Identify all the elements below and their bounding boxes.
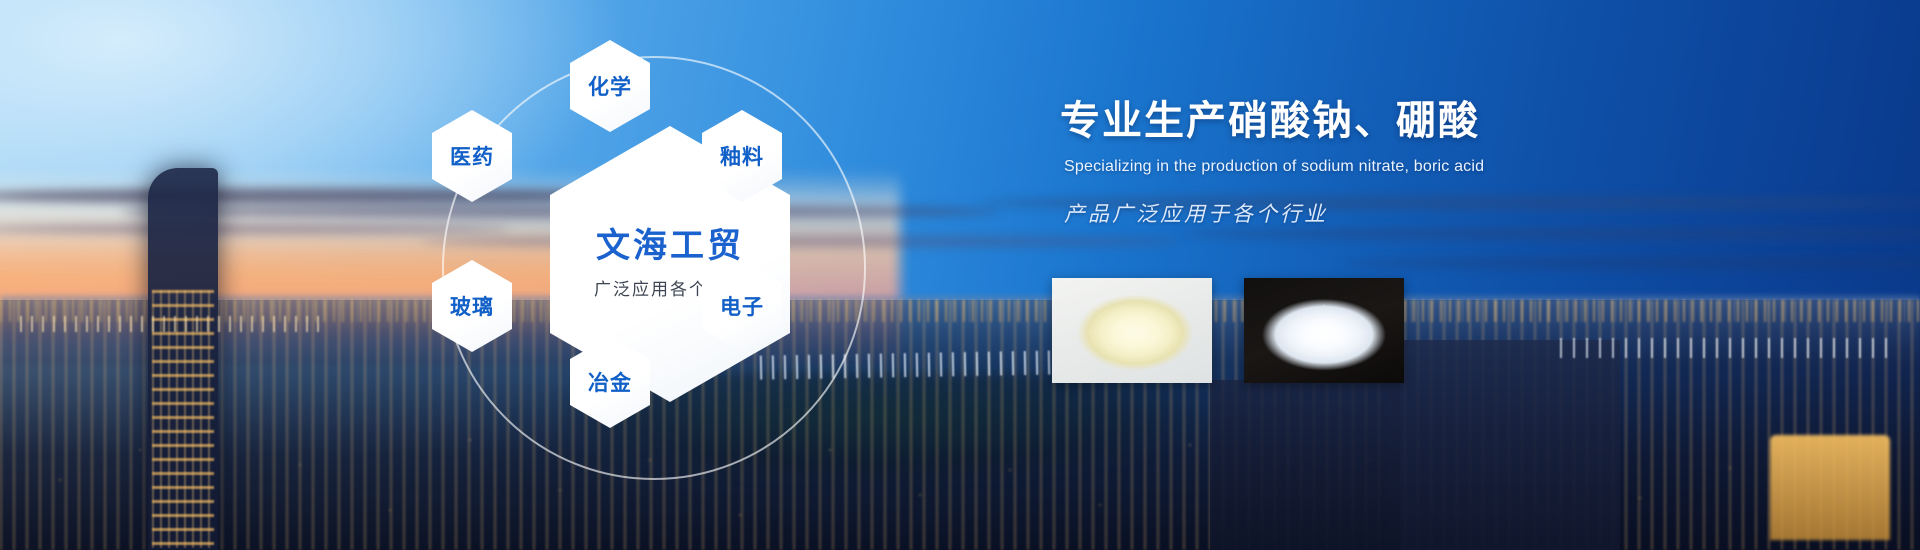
illuminated-building (1770, 435, 1890, 540)
headline-english: Specializing in the production of sodium… (1064, 158, 1860, 176)
headline: 专业生产硝酸钠、硼酸 (1060, 96, 1860, 146)
promo-banner: 文海工贸 广泛应用各个行业 化学 釉料 电子 冶金 玻璃 医药 专业生产硝酸钠、… (0, 0, 1920, 550)
product-photo-sodium-nitrate[interactable] (1052, 278, 1212, 383)
product-photo-boric-acid[interactable] (1244, 278, 1404, 383)
building-block (1210, 380, 1400, 550)
building-block (1390, 340, 1620, 550)
industry-hexagon-diagram: 文海工贸 广泛应用各个行业 化学 釉料 电子 冶金 玻璃 医药 (424, 18, 944, 518)
bridge-lights (20, 316, 320, 332)
product-photo-gallery (1052, 278, 1404, 383)
bridge-lights (1560, 338, 1890, 358)
tagline: 产品广泛应用于各个行业 (1064, 198, 1860, 228)
company-name: 文海工贸 (596, 228, 744, 265)
banner-copy: 专业生产硝酸钠、硼酸 Specializing in the productio… (1060, 96, 1860, 228)
